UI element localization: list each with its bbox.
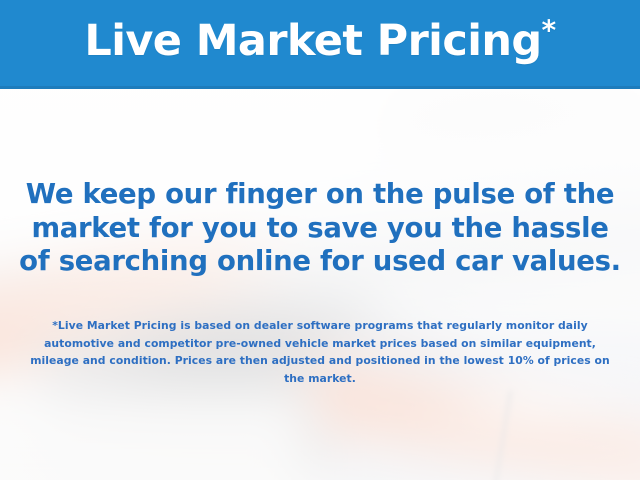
header-bar: Live Market Pricing*: [0, 0, 640, 89]
page-title-text: Live Market Pricing: [84, 16, 541, 66]
headline-text: We keep our finger on the pulse of the m…: [0, 178, 640, 279]
disclaimer-text: *Live Market Pricing is based on dealer …: [0, 317, 640, 387]
live-market-pricing-banner: Live Market Pricing* We keep our finger …: [0, 0, 640, 480]
page-title-asterisk: *: [542, 14, 556, 47]
page-title: Live Market Pricing*: [84, 20, 555, 66]
white-overlay-wash: [0, 88, 640, 480]
